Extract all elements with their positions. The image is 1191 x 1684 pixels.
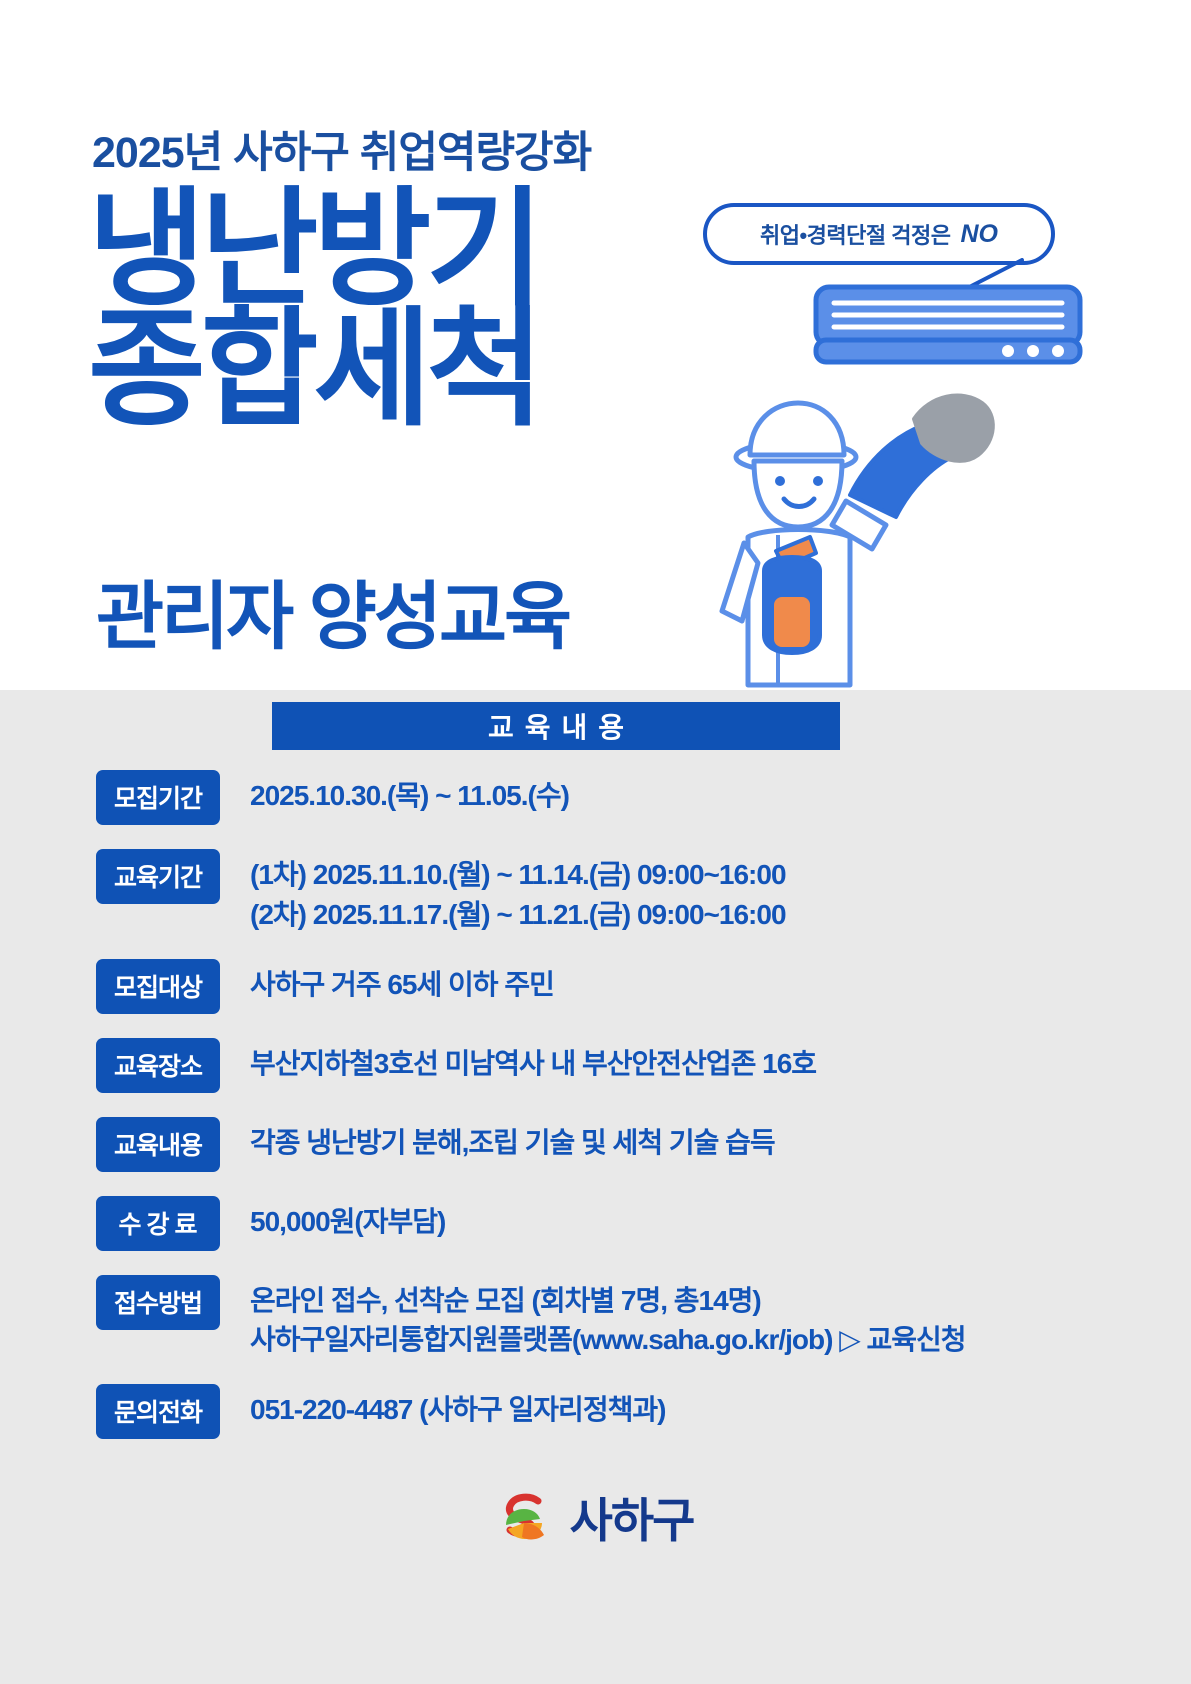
section-banner-title: 교육내용 — [477, 706, 635, 746]
info-table: 모집기간 2025.10.30.(목) ~ 11.05.(수) 교육기간 (1차… — [0, 770, 1191, 1463]
speech-bubble-emphasis: NO — [960, 220, 998, 249]
row-value: 50,000원(자부담) — [250, 1196, 1191, 1242]
row-value-line: 051-220-4487 (사하구 일자리정책과) — [250, 1390, 1191, 1430]
row-value: 부산지하철3호선 미남역사 내 부산안전산업존 16호 — [250, 1038, 1191, 1084]
row-value: 051-220-4487 (사하구 일자리정책과) — [250, 1384, 1191, 1430]
row-label-badge: 교육기간 — [96, 849, 220, 904]
subtitle-text: 관리자 양성교육 — [96, 580, 569, 654]
row-value-line: (1차) 2025.11.10.(월) ~ 11.14.(금) 09:00~16… — [250, 855, 1191, 895]
row-value-line: 2025.10.30.(목) ~ 11.05.(수) — [250, 776, 1191, 816]
table-row: 모집기간 2025.10.30.(목) ~ 11.05.(수) — [0, 770, 1191, 825]
table-row: 문의전화 051-220-4487 (사하구 일자리정책과) — [0, 1384, 1191, 1439]
row-value-line: 각종 냉난방기 분해,조립 기술 및 세척 기술 습득 — [250, 1123, 1191, 1163]
row-value-line: 50,000원(자부담) — [250, 1202, 1191, 1242]
section-banner: 교육내용 — [272, 702, 840, 750]
footer: 사하구 — [0, 1482, 1191, 1551]
row-value-line: 온라인 접수, 선착순 모집 (회차별 7명, 총14명) — [250, 1281, 1191, 1321]
row-value: 온라인 접수, 선착순 모집 (회차별 7명, 총14명) 사하구일자리통합지원… — [250, 1275, 1191, 1361]
air-conditioner-icon — [812, 283, 1084, 368]
row-value: 사하구 거주 65세 이하 주민 — [250, 959, 1191, 1005]
speech-bubble: 취업•경력단절 걱정은 NO — [703, 203, 1055, 265]
table-row: 모집대상 사하구 거주 65세 이하 주민 — [0, 959, 1191, 1014]
row-value: (1차) 2025.11.10.(월) ~ 11.14.(금) 09:00~16… — [250, 849, 1191, 935]
row-value: 각종 냉난방기 분해,조립 기술 및 세척 기술 습득 — [250, 1117, 1191, 1163]
row-label-badge: 문의전화 — [96, 1384, 220, 1439]
title-line-1: 냉난방기 — [88, 190, 539, 310]
saha-gu-logo-icon — [498, 1489, 554, 1545]
row-label-badge: 모집기간 — [96, 770, 220, 825]
title-line-2: 종합세척 — [88, 310, 539, 430]
poster-root: 2025년 사하구 취업역량강화 냉난방기 종합세척 관리자 양성교육 취업•경… — [0, 0, 1191, 1684]
row-label-badge: 모집대상 — [96, 959, 220, 1014]
table-row: 교육기간 (1차) 2025.11.10.(월) ~ 11.14.(금) 09:… — [0, 849, 1191, 935]
row-label-badge: 교육장소 — [96, 1038, 220, 1093]
row-label-badge: 수강료 — [96, 1196, 220, 1251]
row-value-line[interactable]: 사하구일자리통합지원플랫폼(www.saha.go.kr/job) ▷ 교육신청 — [250, 1320, 1191, 1360]
worker-character-illustration — [700, 385, 1100, 690]
hero-section: 2025년 사하구 취업역량강화 냉난방기 종합세척 관리자 양성교육 취업•경… — [0, 0, 1191, 690]
row-value-line: (2차) 2025.11.17.(월) ~ 11.21.(금) 09:00~16… — [250, 895, 1191, 935]
row-label-badge: 접수방법 — [96, 1275, 220, 1330]
row-label-badge: 교육내용 — [96, 1117, 220, 1172]
row-value-line: 사하구 거주 65세 이하 주민 — [250, 965, 1191, 1005]
footer-org-name: 사하구 — [570, 1482, 694, 1551]
speech-bubble-text: 취업•경력단절 걱정은 — [760, 218, 950, 250]
table-row: 수강료 50,000원(자부담) — [0, 1196, 1191, 1251]
main-title: 냉난방기 종합세척 — [88, 190, 539, 431]
row-value-line: 부산지하철3호선 미남역사 내 부산안전산업존 16호 — [250, 1044, 1191, 1084]
table-row: 교육내용 각종 냉난방기 분해,조립 기술 및 세척 기술 습득 — [0, 1117, 1191, 1172]
table-row: 접수방법 온라인 접수, 선착순 모집 (회차별 7명, 총14명) 사하구일자… — [0, 1275, 1191, 1361]
row-value: 2025.10.30.(목) ~ 11.05.(수) — [250, 770, 1191, 816]
table-row: 교육장소 부산지하철3호선 미남역사 내 부산안전산업존 16호 — [0, 1038, 1191, 1093]
kicker-text: 2025년 사하구 취업역량강화 — [92, 118, 591, 180]
